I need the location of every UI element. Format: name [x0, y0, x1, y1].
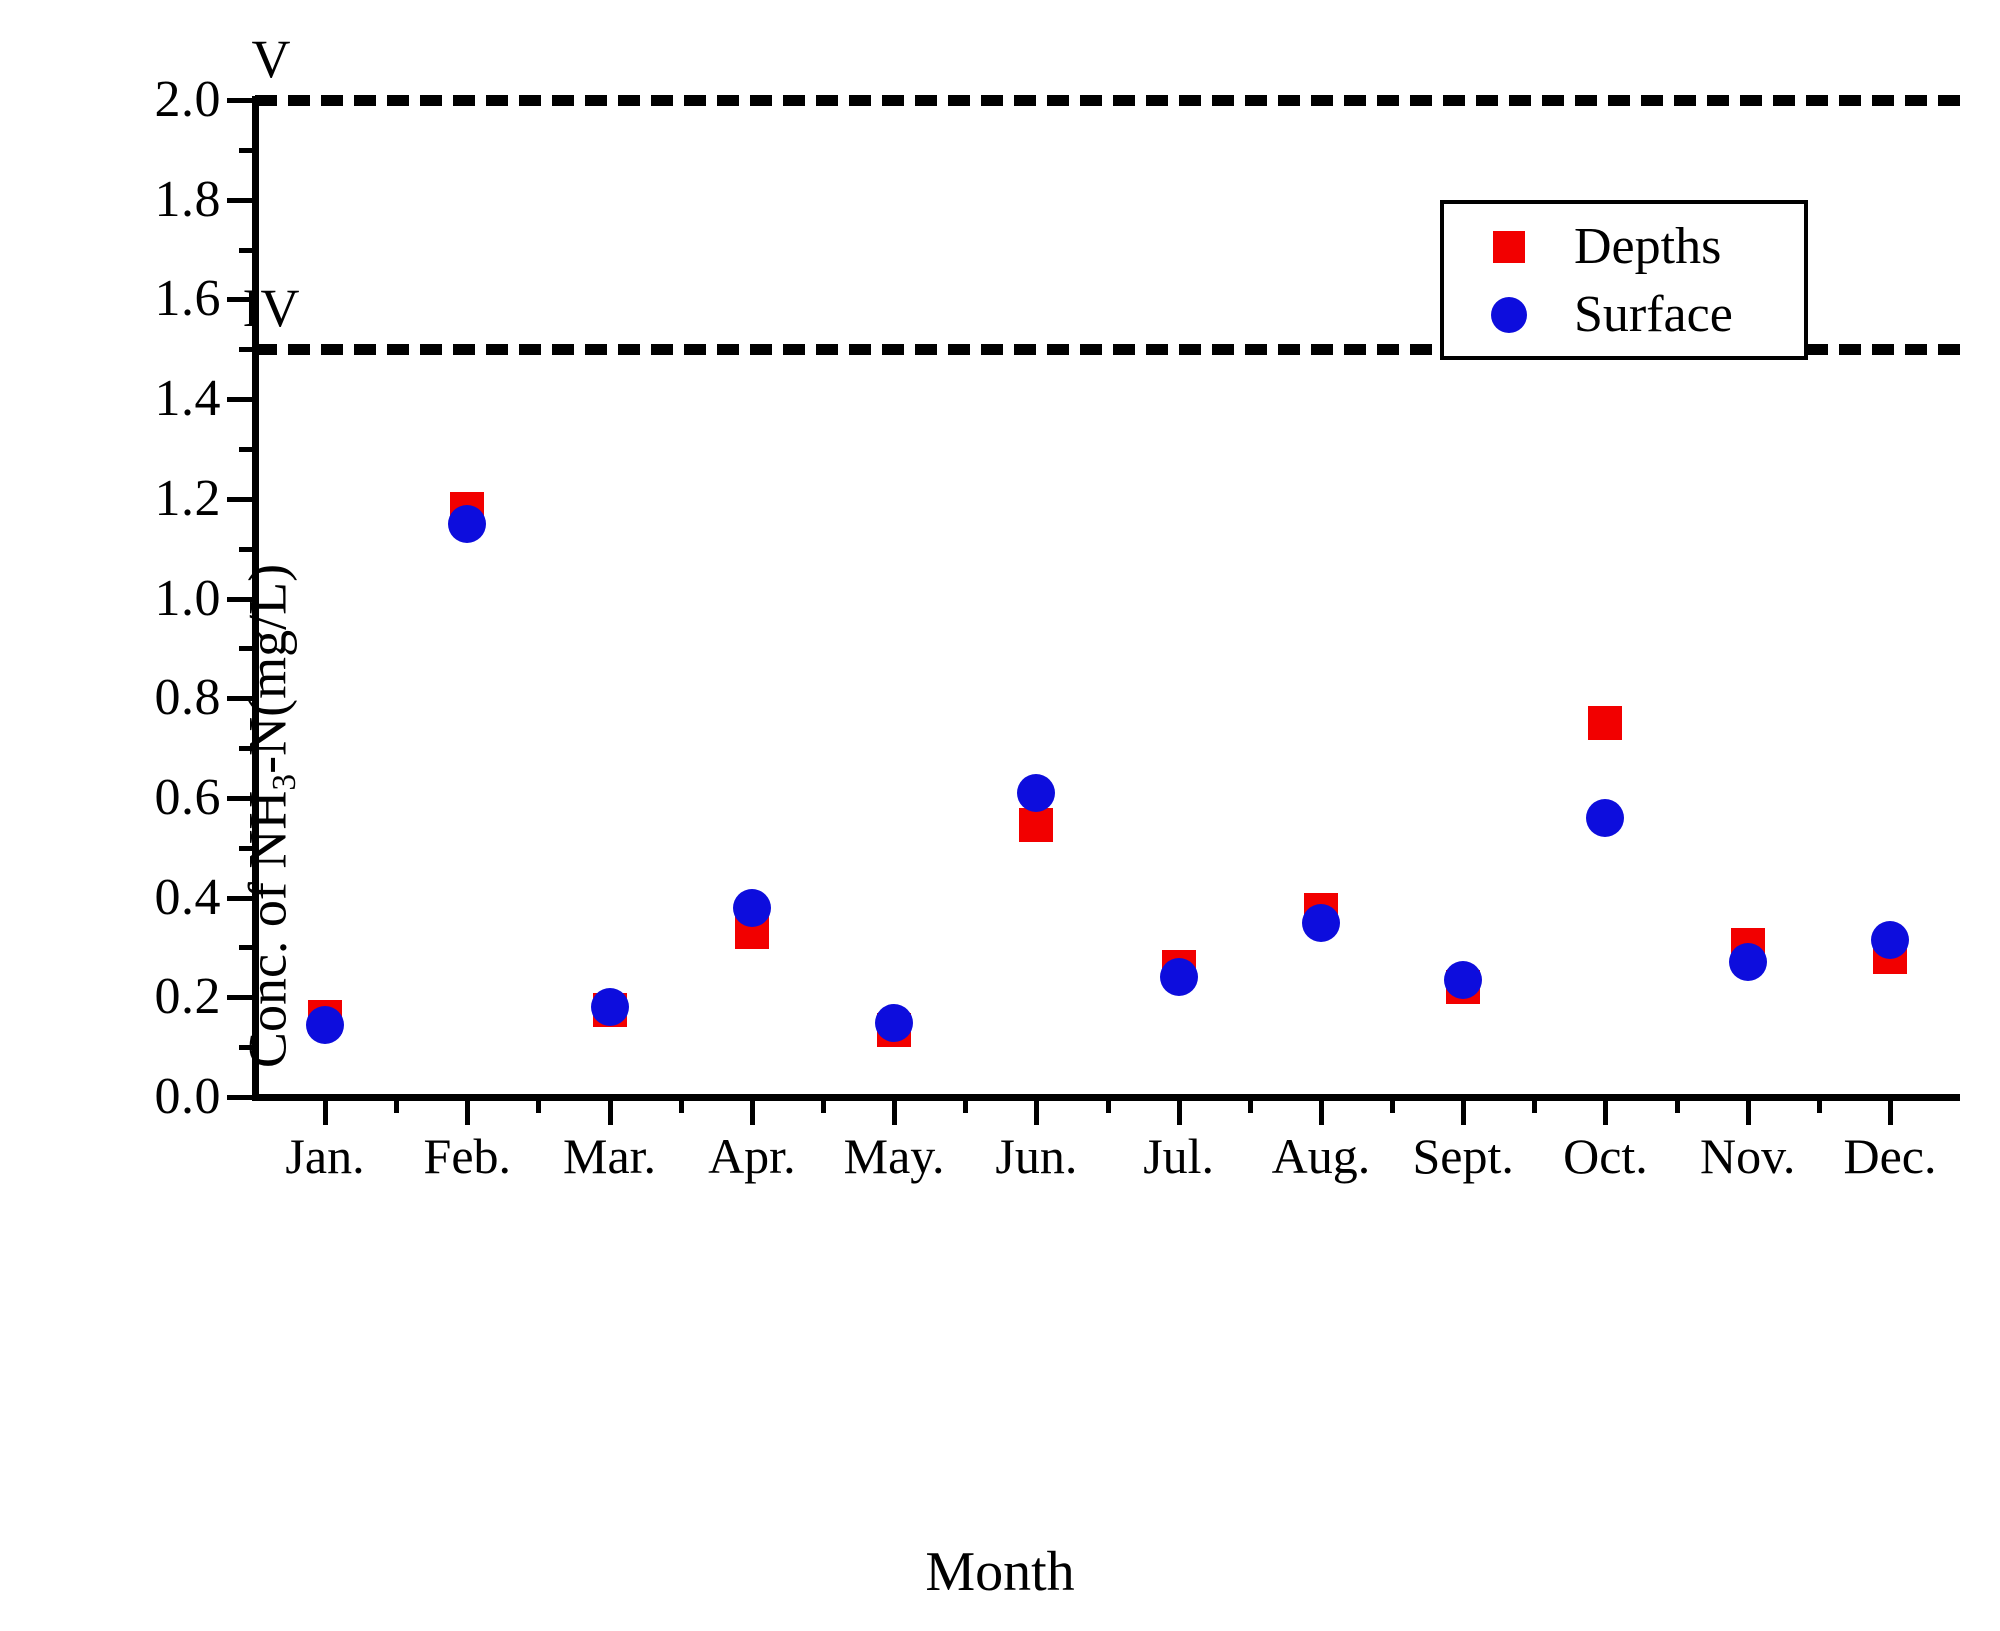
x-tick-minor	[394, 1097, 399, 1113]
y-tick-major	[227, 696, 255, 701]
x-tick-major	[1603, 1097, 1608, 1125]
data-point-surface-mar	[591, 988, 629, 1026]
legend-item-depths: Depths	[1444, 212, 1804, 282]
y-tick-label: 1.8	[155, 174, 222, 226]
y-tick-major	[227, 597, 255, 602]
x-tick-major	[1888, 1097, 1893, 1125]
y-tick-major	[227, 896, 255, 901]
y-tick-major	[227, 497, 255, 502]
y-tick-label: 0.0	[155, 1071, 222, 1123]
data-point-surface-may	[875, 1004, 913, 1042]
y-tick-major	[227, 397, 255, 402]
x-tick-major	[465, 1097, 470, 1125]
x-tick-minor	[1675, 1097, 1680, 1113]
x-tick-minor	[963, 1097, 968, 1113]
x-tick-label: Apr.	[708, 1131, 796, 1181]
y-tick-label: 0.2	[155, 971, 222, 1023]
x-tick-label: Aug.	[1272, 1131, 1371, 1181]
x-tick-minor	[1532, 1097, 1537, 1113]
data-point-surface-feb	[448, 505, 486, 543]
x-tick-minor	[536, 1097, 541, 1113]
x-tick-major	[1034, 1097, 1039, 1125]
chart-container: Conc. of NH3-N(mg/L) 0.00.20.40.60.81.01…	[0, 0, 2000, 1631]
x-tick-label: Feb.	[424, 1131, 512, 1181]
x-axis-title: Month	[0, 1540, 2000, 1604]
x-tick-minor	[679, 1097, 684, 1113]
x-tick-label: Jul.	[1143, 1131, 1214, 1181]
y-tick-minor	[239, 547, 255, 552]
x-tick-minor	[1817, 1097, 1822, 1113]
y-tick-minor	[239, 746, 255, 751]
threshold-label-iv: IV	[243, 281, 300, 335]
x-tick-label: Jun.	[995, 1131, 1077, 1181]
y-tick-major	[227, 796, 255, 801]
x-tick-minor	[821, 1097, 826, 1113]
chart-legend: Depths Surface	[1440, 200, 1808, 360]
y-tick-minor	[239, 846, 255, 851]
data-point-surface-oct	[1586, 799, 1624, 837]
x-tick-major	[608, 1097, 613, 1125]
y-tick-major	[227, 198, 255, 203]
data-point-surface-aug	[1302, 904, 1340, 942]
threshold-line-v	[255, 95, 1960, 106]
data-point-surface-dec	[1871, 921, 1909, 959]
x-tick-label: Jan.	[285, 1131, 364, 1181]
y-tick-label: 0.4	[155, 872, 222, 924]
y-tick-minor	[239, 347, 255, 352]
x-tick-label: May.	[844, 1131, 945, 1181]
x-tick-major	[1461, 1097, 1466, 1125]
y-tick-label: 0.8	[155, 672, 222, 724]
y-tick-label: 1.2	[155, 473, 222, 525]
x-tick-major	[750, 1097, 755, 1125]
legend-label-surface: Surface	[1574, 289, 1733, 341]
x-tick-major	[1319, 1097, 1324, 1125]
y-tick-minor	[239, 148, 255, 153]
data-point-surface-nov	[1729, 943, 1767, 981]
y-tick-minor	[239, 248, 255, 253]
data-point-surface-sept	[1444, 961, 1482, 999]
y-tick-minor	[239, 1045, 255, 1050]
legend-swatch-circle-icon	[1444, 297, 1574, 333]
x-tick-label: Mar.	[563, 1131, 656, 1181]
y-tick-major	[227, 98, 255, 103]
data-point-depths-oct	[1588, 706, 1622, 740]
y-tick-minor	[239, 646, 255, 651]
x-tick-label: Sept.	[1412, 1131, 1513, 1181]
legend-swatch-square-icon	[1444, 231, 1574, 263]
legend-label-depths: Depths	[1574, 221, 1721, 273]
data-point-surface-jan	[306, 1006, 344, 1044]
x-tick-label: Oct.	[1563, 1131, 1648, 1181]
threshold-label-v: V	[252, 32, 291, 86]
data-point-surface-apr	[733, 889, 771, 927]
x-tick-major	[323, 1097, 328, 1125]
x-tick-label: Nov.	[1700, 1131, 1795, 1181]
y-tick-minor	[239, 945, 255, 950]
legend-item-surface: Surface	[1444, 280, 1804, 350]
data-point-surface-jul	[1160, 958, 1198, 996]
x-tick-minor	[1248, 1097, 1253, 1113]
x-tick-minor	[1390, 1097, 1395, 1113]
x-tick-label: Dec.	[1844, 1131, 1937, 1181]
x-tick-minor	[1106, 1097, 1111, 1113]
x-tick-major	[1177, 1097, 1182, 1125]
y-tick-major	[227, 1095, 255, 1100]
y-tick-label: 1.6	[155, 273, 222, 325]
x-tick-major	[892, 1097, 897, 1125]
x-tick-major	[1746, 1097, 1751, 1125]
y-tick-label: 0.6	[155, 772, 222, 824]
y-tick-label: 2.0	[155, 74, 222, 126]
data-point-surface-jun	[1017, 774, 1055, 812]
y-tick-label: 1.0	[155, 573, 222, 625]
y-tick-label: 1.4	[155, 373, 222, 425]
y-tick-major	[227, 995, 255, 1000]
y-tick-minor	[239, 447, 255, 452]
data-point-depths-jun	[1019, 808, 1053, 842]
